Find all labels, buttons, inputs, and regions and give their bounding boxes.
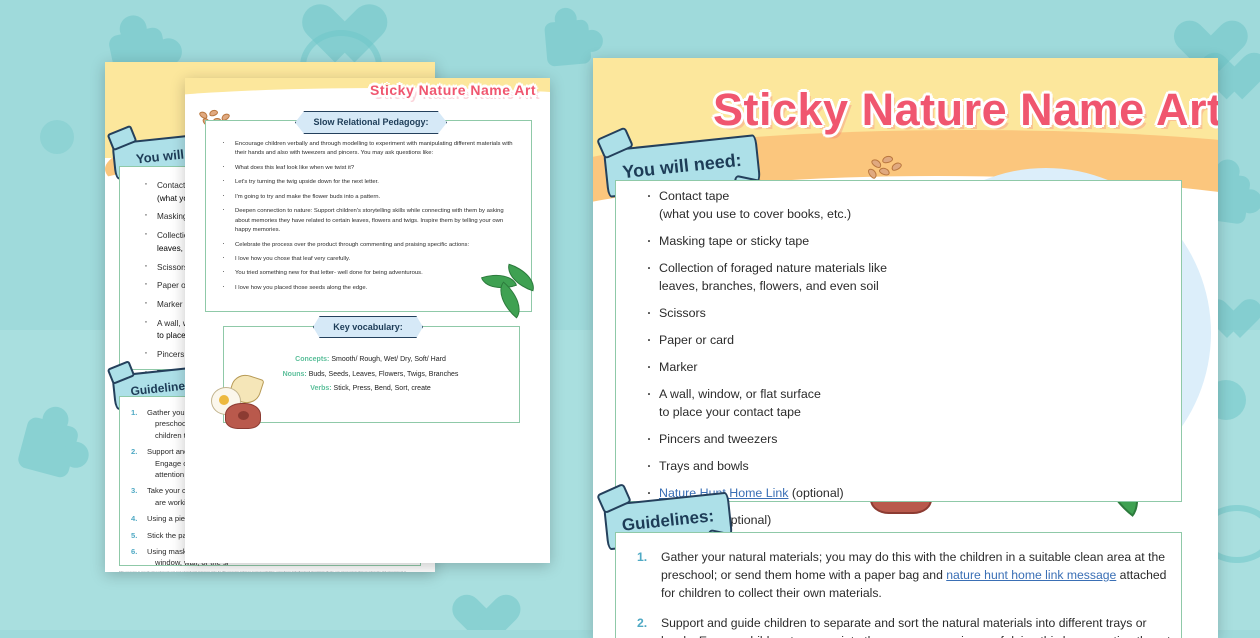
front-page-title: Sticky Nature Name Art bbox=[713, 84, 1218, 136]
front-page-sheet[interactable]: Sticky Nature Name Art You will need: bbox=[593, 58, 1218, 638]
disc-motif bbox=[40, 120, 74, 154]
pedagogy-item: I love how you placed those seeds along … bbox=[219, 284, 519, 293]
mid-page-header-title: Sticky Nature Name Art bbox=[370, 82, 536, 98]
flower-cluster-icon bbox=[211, 373, 273, 431]
you-will-need-label: You will need: bbox=[621, 149, 742, 182]
you-will-need-item: Scissors bbox=[643, 305, 943, 323]
back-fineprint: This resource is provided for informatio… bbox=[119, 570, 415, 572]
you-will-need-item: Contact tape(what you use to cover books… bbox=[643, 188, 943, 224]
you-will-need-item: Paper or card bbox=[643, 332, 943, 350]
you-will-need-item: Collection of foraged nature materials l… bbox=[643, 260, 943, 296]
pedagogy-item: I'm going to try and make the flower bud… bbox=[219, 193, 519, 202]
guidelines-list: Gather your natural materials; you may d… bbox=[635, 548, 1180, 638]
you-will-need-list: Contact tape(what you use to cover books… bbox=[643, 188, 943, 539]
pedagogy-item: You tried something new for that letter-… bbox=[219, 269, 519, 278]
you-will-need-item: Pincers and tweezers bbox=[643, 431, 943, 449]
guidelines-item: Gather your natural materials; you may d… bbox=[635, 548, 1180, 602]
green-leaves-icon bbox=[481, 266, 539, 318]
pedagogy-item: Deepen connection to nature: Support chi… bbox=[219, 207, 519, 235]
vocabulary-row: Concepts: Smooth/ Rough, Wet/ Dry, Soft/… bbox=[227, 353, 514, 368]
mid-page-sheet[interactable]: Sticky Nature Name Art Slow Relational P… bbox=[185, 78, 550, 563]
pedagogy-item: Encourage children verbally and through … bbox=[219, 140, 519, 159]
guidelines-item: Support and guide children to separate a… bbox=[635, 614, 1180, 638]
pedagogy-list: Encourage children verbally and through … bbox=[219, 140, 519, 298]
heart-motif bbox=[1213, 54, 1260, 104]
pedagogy-badge: Slow Relational Pedagogy: bbox=[295, 111, 447, 134]
pedagogy-item: Let's try turning the twig upside down f… bbox=[219, 178, 519, 187]
pedagogy-item: Celebrate the process over the product t… bbox=[219, 241, 519, 250]
vocabulary-badge: Key vocabulary: bbox=[313, 316, 423, 338]
you-will-need-item: Marker bbox=[643, 359, 943, 377]
you-will-need-item: A wall, window, or flat surfaceto place … bbox=[643, 386, 943, 422]
you-will-need-item: Trays and bowls bbox=[643, 458, 943, 476]
pedagogy-item: What does this leaf look like when we tw… bbox=[219, 164, 519, 173]
nature-hunt-home-link-message[interactable]: nature hunt home link message bbox=[946, 568, 1116, 582]
you-will-need-item: Masking tape or sticky tape bbox=[643, 233, 943, 251]
heart-motif bbox=[465, 596, 520, 630]
heart-motif bbox=[1216, 300, 1260, 342]
pedagogy-item: I love how you chose that leaf very care… bbox=[219, 255, 519, 264]
